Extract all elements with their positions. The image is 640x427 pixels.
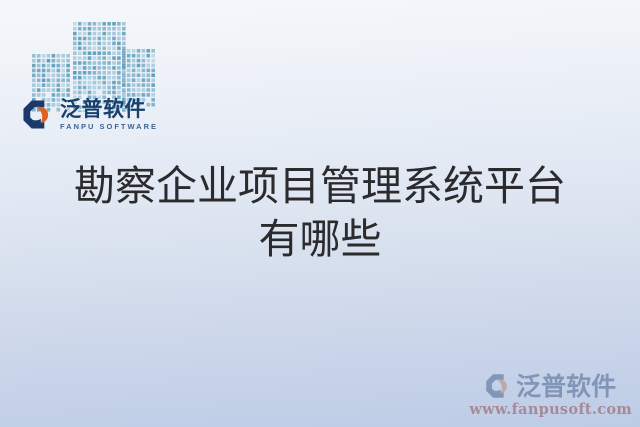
watermark-brand-row: 泛普软件 — [485, 373, 616, 399]
watermark-url: www.fanpusoft.com — [469, 401, 632, 418]
brand-logo: 泛普软件 FANPU SOFTWARE — [22, 99, 158, 131]
page-title-line-1: 勘察企业项目管理系统平台 — [0, 160, 640, 213]
banner-canvas: 泛普软件 FANPU SOFTWARE 勘察企业项目管理系统平台 有哪些 泛普软… — [0, 0, 640, 427]
watermark-brand-name: 泛普软件 — [516, 374, 616, 399]
page-title: 勘察企业项目管理系统平台 有哪些 — [0, 160, 640, 266]
watermark: 泛普软件 www.fanpusoft.com — [469, 373, 632, 418]
brand-name-cn: 泛普软件 — [60, 99, 158, 120]
fanpu-hexagon-logo-icon — [485, 373, 511, 399]
fanpu-hexagon-logo-icon — [22, 99, 53, 130]
brand-name-en: FANPU SOFTWARE — [60, 123, 158, 131]
page-title-line-2: 有哪些 — [0, 213, 640, 266]
